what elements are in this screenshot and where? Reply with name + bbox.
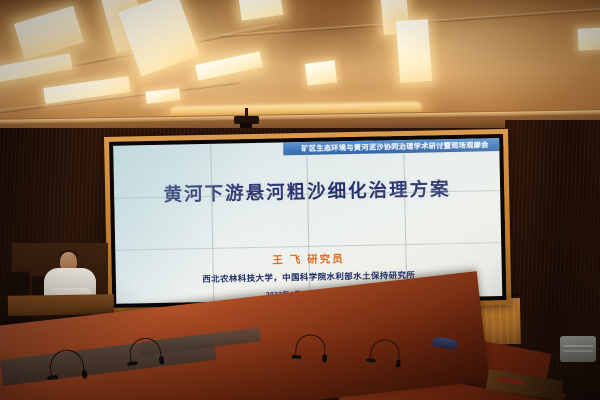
av-equipment-vent-2: [563, 350, 593, 352]
conference-room-photo: 矿区生态环境与黄河泥沙协同治理学术研讨暨现场观摩会 黄河下游悬河粗沙细化治理方案…: [0, 0, 600, 400]
av-equipment-box: [560, 336, 596, 362]
chair-1: [3, 271, 30, 296]
ceiling-lamp-9: [305, 60, 337, 85]
ceiling-lamp-12: [577, 27, 600, 51]
av-equipment-vent-1: [563, 345, 593, 347]
microphone-capsule-icon: [322, 354, 327, 362]
conference-banner: 矿区生态环境与黄河泥沙协同治理学术研讨暨现场观摩会: [283, 138, 502, 155]
microphone-capsule-icon: [159, 356, 165, 365]
microphone-capsule-icon: [81, 369, 87, 379]
microphone-base: [292, 355, 302, 359]
conference-banner-text: 矿区生态环境与黄河泥沙协同治理学术研讨暨现场观摩会: [301, 140, 488, 154]
rear-desk-front: [8, 294, 114, 316]
ceiling-lamp-11: [396, 19, 432, 83]
